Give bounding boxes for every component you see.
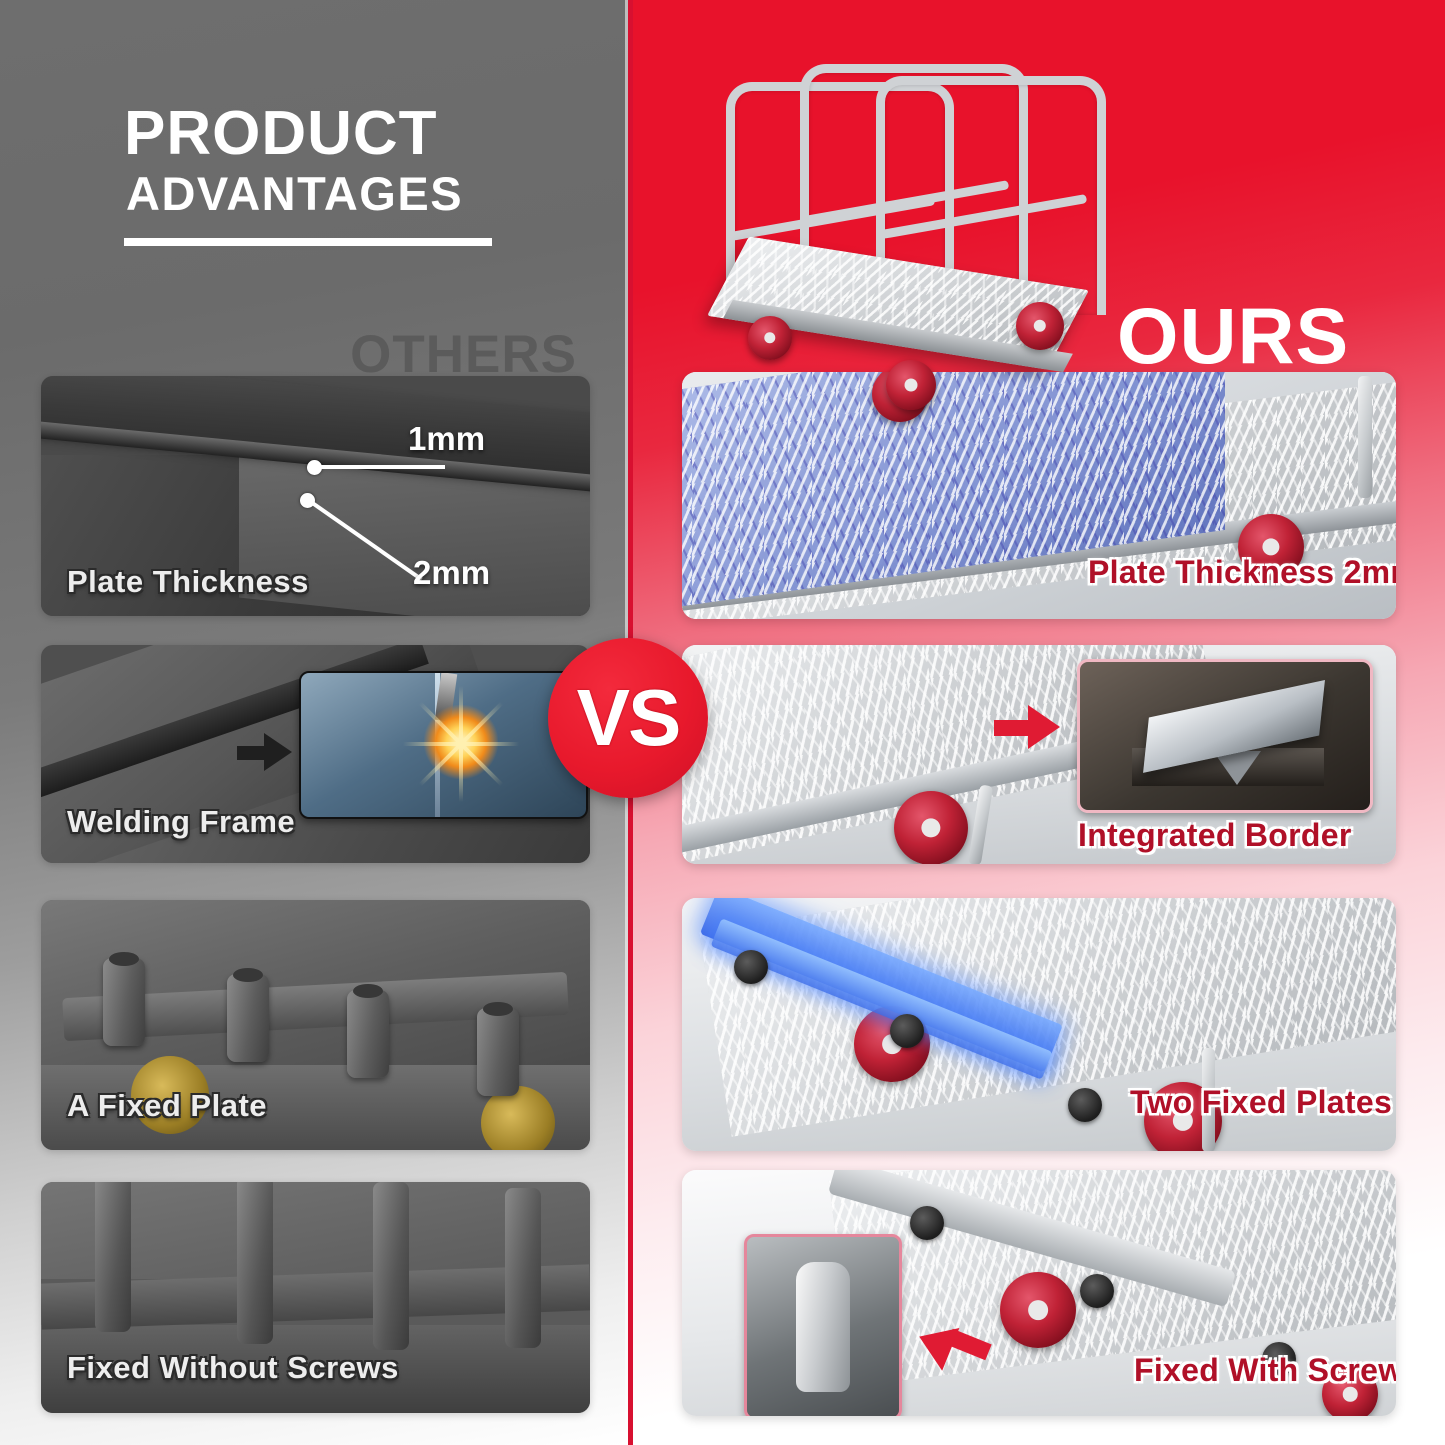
ours-screws-caster-left xyxy=(1000,1272,1076,1348)
others-card-welding-frame: Welding Frame xyxy=(41,645,590,863)
vs-badge: VS xyxy=(548,638,708,798)
ours-screws-knob-1 xyxy=(910,1206,944,1240)
page-title: PRODUCT ADVANTAGES xyxy=(124,104,544,246)
title-line-1: PRODUCT xyxy=(124,104,544,164)
ours-screws-knob-2 xyxy=(1080,1274,1114,1308)
arrow-right-icon xyxy=(1028,705,1060,749)
ours-border-caster xyxy=(894,791,968,864)
callout-value-2mm: 2mm xyxy=(413,554,490,592)
ours-heading: OURS xyxy=(1117,290,1349,382)
arrow-right-icon xyxy=(264,733,292,771)
ours-integrated-border-inset-photo xyxy=(1077,659,1373,813)
product-advantages-infographic: PRODUCT ADVANTAGES OTHERS OURS VS 1mm 2m… xyxy=(0,0,1445,1445)
screw-fastener xyxy=(796,1262,851,1392)
title-underline xyxy=(124,238,492,246)
others-card-plate-thickness: 1mm 2mm Plate Thickness xyxy=(41,376,590,616)
ours-caption-two-fixed-plates: Two Fixed Plates xyxy=(1130,1084,1392,1121)
ours-screw-detail-inset-photo xyxy=(744,1234,902,1416)
others-caption-plate-thickness: Plate Thickness xyxy=(67,564,309,600)
others-noscrew-post-1 xyxy=(95,1182,131,1332)
ours-card-fixed-with-screws: Fixed With Screws xyxy=(682,1170,1396,1416)
ours-caption-integrated-border: Integrated Border xyxy=(1078,817,1352,854)
ours-twoplates-knob-1 xyxy=(734,950,768,984)
ours-twoplates-knob-3 xyxy=(1068,1088,1102,1122)
weld-spark xyxy=(424,705,498,779)
others-post-2 xyxy=(227,974,269,1062)
ours-frame-post-right xyxy=(1358,376,1372,498)
others-noscrew-post-3 xyxy=(373,1182,409,1350)
cart-caster-front-right xyxy=(886,360,936,410)
ours-caption-fixed-with-screws: Fixed With Screws xyxy=(1134,1352,1396,1389)
others-noscrew-post-4 xyxy=(505,1188,541,1348)
title-line-2: ADVANTAGES xyxy=(124,164,544,224)
cart-caster-rear-right xyxy=(1016,302,1064,350)
others-noscrew-post-2 xyxy=(237,1182,273,1344)
others-post-1 xyxy=(103,958,145,1046)
others-caption-welding-frame: Welding Frame xyxy=(67,804,295,840)
ours-border-arrow-tail xyxy=(994,720,1032,736)
others-card-a-fixed-plate: A Fixed Plate xyxy=(41,900,590,1150)
others-caption-a-fixed-plate: A Fixed Plate xyxy=(67,1088,267,1124)
others-card-fixed-without-screws: Fixed Without Screws xyxy=(41,1182,590,1413)
ours-caption-plate-thickness: Plate Thickness 2mm xyxy=(1088,554,1396,591)
callout-value-1mm: 1mm xyxy=(408,420,485,458)
others-welding-inset-photo xyxy=(299,671,588,819)
hero-platform-cart-image xyxy=(700,30,1130,420)
others-post-3 xyxy=(347,990,389,1078)
vs-badge-label: VS xyxy=(577,678,680,758)
ours-twoplates-knob-2 xyxy=(890,1014,924,1048)
callout-leader-1mm xyxy=(319,465,445,469)
others-post-4 xyxy=(477,1008,519,1096)
ours-card-two-fixed-plates: Two Fixed Plates xyxy=(682,898,1396,1151)
cart-caster-front-left xyxy=(748,316,792,360)
ours-card-integrated-border: Integrated Border xyxy=(682,645,1396,864)
others-caption-fixed-without-screws: Fixed Without Screws xyxy=(67,1350,399,1386)
